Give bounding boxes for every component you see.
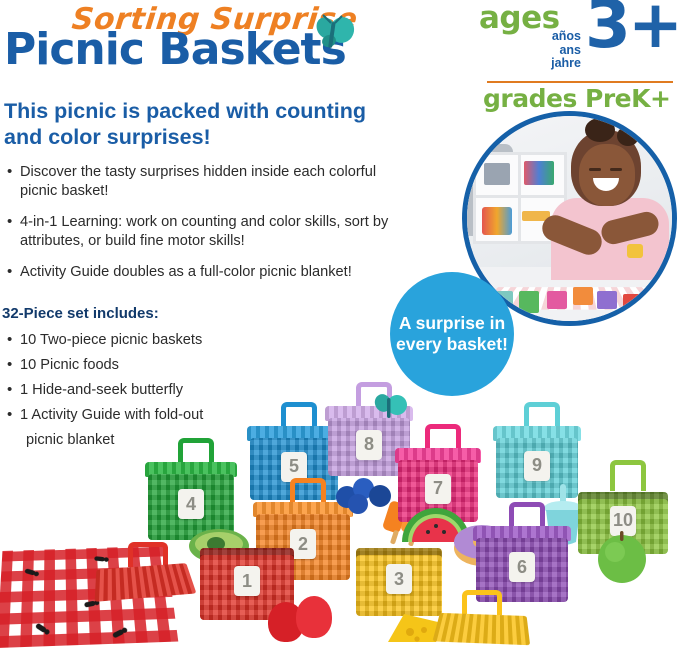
yellow-basket-lid [432,613,530,645]
ages-divider [487,81,673,83]
basket-number: 4 [178,489,204,519]
hide-and-seek-butterfly-icon [372,392,408,422]
mini-basket [623,294,643,312]
mini-basket [573,287,593,305]
mini-basket [547,291,567,309]
basket-number: 6 [509,552,535,582]
ant-icon [112,629,125,639]
red-basket-lid [95,563,197,602]
basket-number: 1 [234,566,260,596]
title-block: Sorting Surprise Picnic Baskets [0,0,420,92]
child-eye [589,168,601,171]
blueberry [348,494,368,514]
list-item: 4-in-1 Learning: work on counting and co… [4,213,414,251]
surprise-badge-text: A surprise in every basket! [390,313,514,355]
yellow-tray-handle [462,590,502,615]
shelf-bin [524,161,554,185]
shelf-bin [482,207,512,235]
butterfly-icon [312,14,356,54]
basket-handle [610,460,646,491]
ant-icon [35,623,47,634]
child-face [579,144,635,206]
age-value: 3+ [585,0,679,58]
ages-translations: años ans jahre [513,30,581,71]
hair-bun [617,126,639,146]
ant-icon [94,556,105,561]
red-basket-handle [128,542,168,567]
basket-number: 3 [386,564,412,594]
ages-grades-panel: ages años ans jahre 3+ grades PreK+ [467,2,673,102]
shelf-divider [518,155,521,241]
green-apple-icon [594,528,650,584]
child-eye [610,168,622,171]
list-item: 10 Two-piece picnic baskets [4,331,304,350]
ant-icon [84,601,96,608]
basket-number: 7 [425,474,451,504]
product-photo: 4 5 8 [0,396,679,655]
mini-basket [597,291,617,309]
hair-bun [585,118,615,142]
mini-basket [645,287,665,305]
ages-label-spanish: años [513,30,581,44]
basket-number: 8 [356,430,382,460]
ages-label-french: ans [513,44,581,58]
shelf-bin [484,163,510,185]
basket-number: 9 [524,451,550,481]
product-title: Picnic Baskets [4,28,346,72]
list-item: Discover the tasty surprises hidden insi… [4,163,414,201]
list-item: Activity Guide doubles as a full-color p… [4,263,414,282]
grades-label: grades PreK+ [483,84,670,113]
held-toy-piece [627,244,643,258]
raspberry [296,596,332,638]
ages-label-german: jahre [513,57,581,71]
cheese-wedge-icon [384,608,442,648]
raspberries-icon [268,596,334,646]
list-item: 10 Picnic foods [4,356,304,375]
includes-heading: 32-Piece set includes: [2,305,159,322]
basket-3: 3 [356,548,442,616]
feature-bullet-list: Discover the tasty surprises hidden insi… [4,163,414,294]
ant-icon [24,568,36,575]
mini-basket [519,291,539,313]
product-detail-image: Sorting Surprise Picnic Baskets ages año… [0,0,679,655]
surprise-badge: A surprise in every basket! [390,272,514,396]
page-headline: This picnic is packed with counting and … [4,98,404,150]
